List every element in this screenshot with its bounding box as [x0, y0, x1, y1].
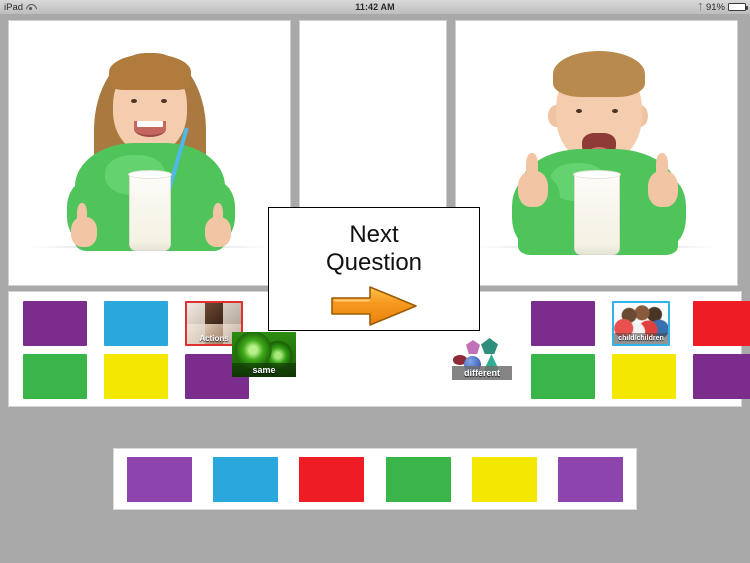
left-photo-panel[interactable]: [8, 20, 291, 286]
bottom-swatch-purple-1[interactable]: [127, 457, 192, 502]
bottom-swatch-green[interactable]: [386, 457, 451, 502]
arrow-right-icon: [328, 283, 420, 329]
right-symbol-grid: child/children: [531, 301, 750, 399]
battery-icon: [728, 3, 746, 11]
different-label: different: [452, 366, 512, 380]
status-bar-time: 11:42 AM: [0, 2, 750, 12]
symbol-tile-same[interactable]: same: [232, 332, 296, 377]
bluetooth-icon: ᛏ: [698, 3, 703, 12]
symbol-cell-green[interactable]: [23, 354, 87, 399]
symbol-cell-green-2[interactable]: [531, 354, 595, 399]
left-symbol-grid: Actions: [23, 301, 249, 399]
symbol-cell-yellow-2[interactable]: [612, 354, 676, 399]
bottom-swatch-purple-2[interactable]: [558, 457, 623, 502]
right-photo-panel[interactable]: [455, 20, 738, 286]
dialog-title-line1: Next: [349, 221, 398, 249]
boy-with-milk-illustration: [456, 21, 737, 285]
symbol-cell-purple-3[interactable]: [531, 301, 595, 346]
same-label: same: [232, 363, 296, 377]
symbol-tile-different[interactable]: different: [450, 337, 514, 382]
status-bar: iPad 11:42 AM ᛏ 91%: [0, 0, 750, 14]
battery-percent-label: 91%: [706, 2, 725, 13]
symbol-cell-red[interactable]: [693, 301, 750, 346]
status-bar-right: ᛏ 91%: [698, 2, 746, 13]
child-children-label: child/children: [614, 334, 668, 344]
symbol-cell-blue[interactable]: [104, 301, 168, 346]
bottom-swatch-red[interactable]: [299, 457, 364, 502]
dialog-title-line2: Question: [326, 249, 422, 277]
symbol-cell-purple-1[interactable]: [23, 301, 87, 346]
symbol-cell-child-children[interactable]: child/children: [612, 301, 670, 346]
next-question-dialog[interactable]: Next Question: [268, 207, 480, 331]
bottom-swatch-blue[interactable]: [213, 457, 278, 502]
bottom-swatch-yellow[interactable]: [472, 457, 537, 502]
bottom-color-strip: [113, 448, 637, 510]
girl-with-milk-illustration: [9, 21, 290, 285]
next-arrow-button[interactable]: [328, 283, 420, 334]
symbol-cell-purple-4[interactable]: [693, 354, 750, 399]
symbol-cell-yellow[interactable]: [104, 354, 168, 399]
